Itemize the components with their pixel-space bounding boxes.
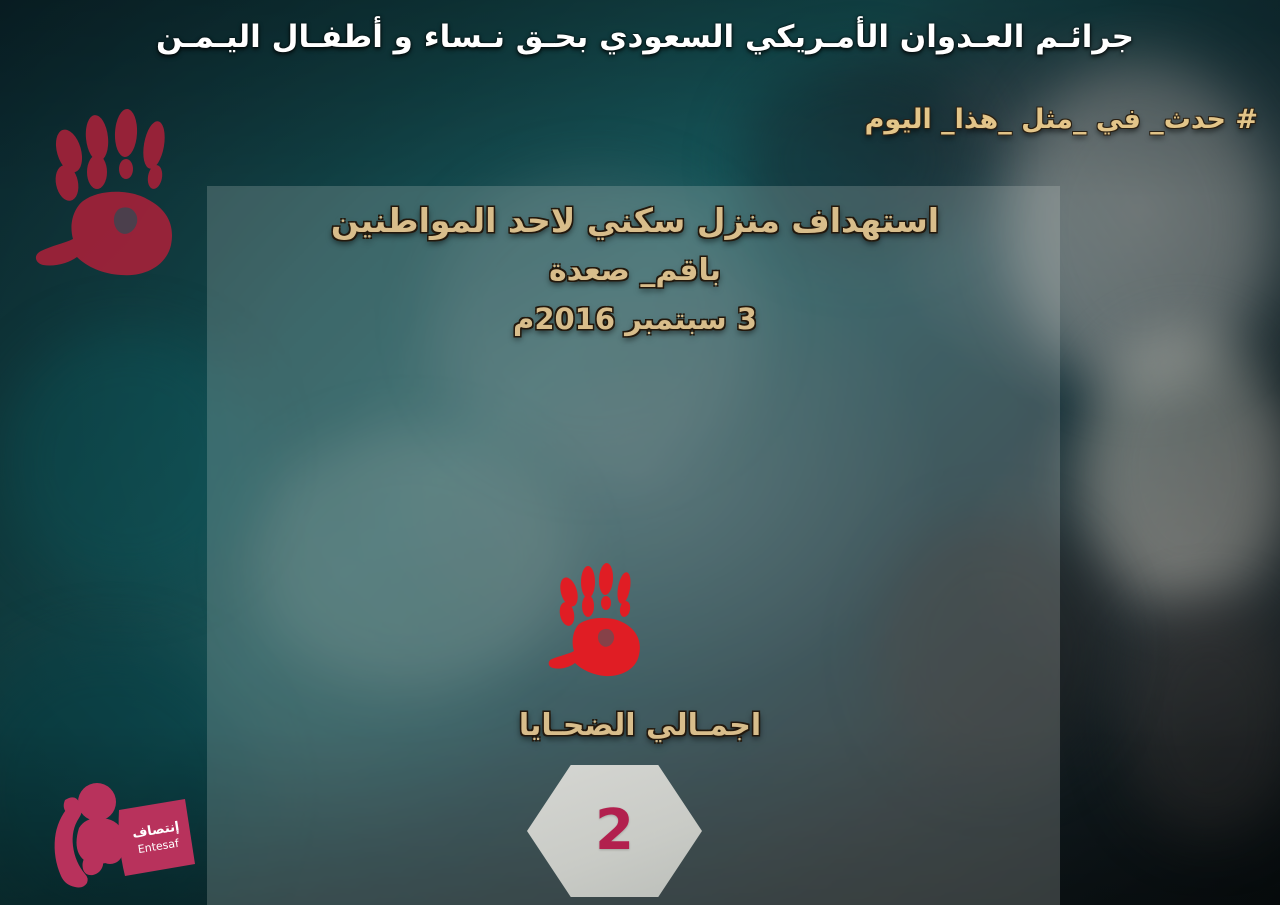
- total-victims-value: 2: [595, 803, 634, 859]
- entesaf-logo[interactable]: إنتصاف Entesaf: [35, 772, 220, 892]
- event-headline: استهداف منزل سكني لاحد المواطنين: [220, 200, 1050, 241]
- infographic-canvas: جرائـم العـدوان الأمـريكي السعودي بحـق ن…: [0, 0, 1280, 905]
- bloody-handprint-icon: [25, 105, 195, 290]
- bloody-handprint-icon: [545, 560, 650, 685]
- event-description: استهداف منزل سكني لاحد المواطنين باقم_ ص…: [220, 200, 1050, 336]
- event-location: باقم_ صعدة: [220, 253, 1050, 288]
- hashtag-label: # حدث_ في _مثل _هذا_ اليوم: [865, 104, 1258, 135]
- page-title: جرائـم العـدوان الأمـريكي السعودي بحـق ن…: [120, 18, 1170, 58]
- total-victims-title: اجمـالي الضحـايا: [0, 708, 1280, 743]
- event-date: 3 سبتمبر 2016م: [220, 302, 1050, 336]
